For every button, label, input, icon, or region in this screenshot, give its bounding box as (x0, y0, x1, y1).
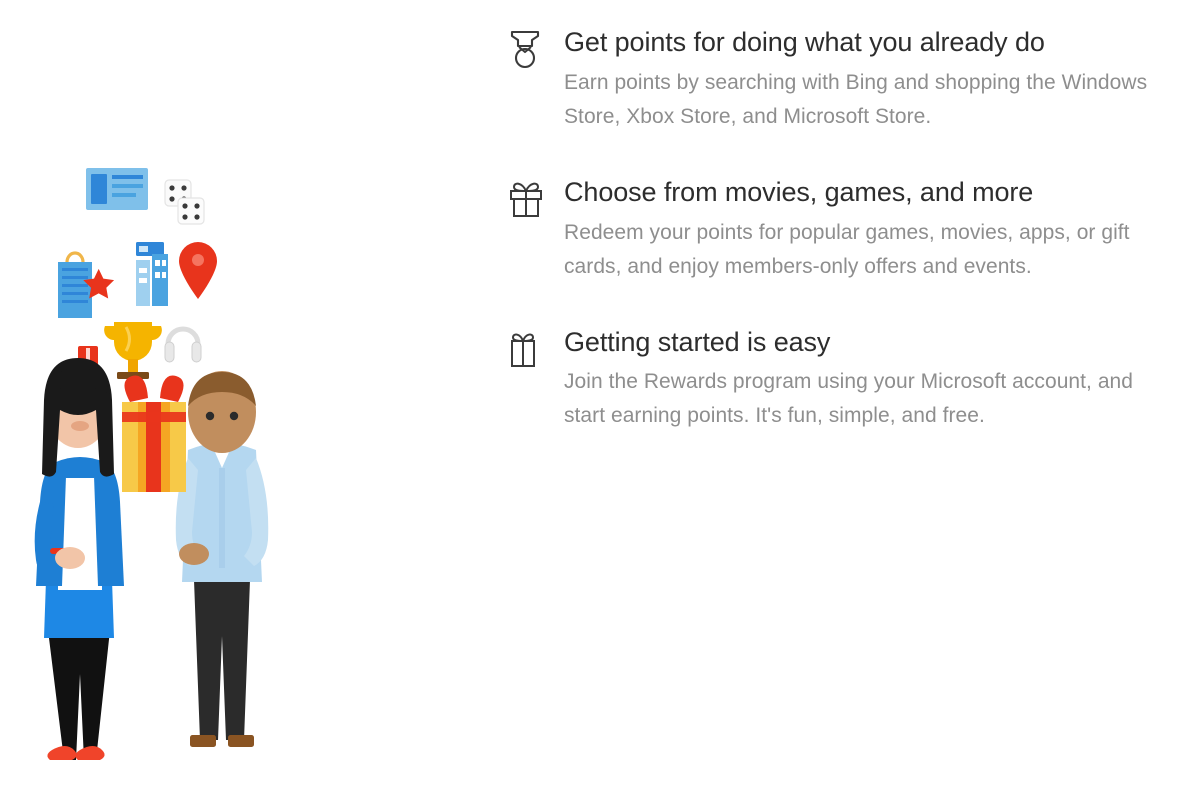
illustration-man (176, 371, 269, 747)
gift-small-icon (508, 326, 564, 372)
feature-item-getting-started: Getting started is easy Join the Rewards… (500, 326, 1200, 434)
feature-description: Earn points by searching with Bing and s… (564, 66, 1174, 134)
two-people-exchanging-gift-illustration (18, 150, 308, 790)
dice-icon (165, 180, 204, 224)
feature-body: Get points for doing what you already do… (564, 26, 1174, 134)
feature-body: Choose from movies, games, and more Rede… (564, 176, 1174, 284)
shopping-bag-icon (58, 253, 92, 318)
gift-box-illustration (122, 375, 186, 492)
feature-title: Get points for doing what you already do (564, 26, 1174, 60)
news-card-icon (86, 168, 148, 210)
medal-icon (508, 26, 564, 72)
illustration-pane (0, 0, 500, 800)
feature-list: Get points for doing what you already do… (500, 0, 1200, 800)
feature-item-get-points: Get points for doing what you already do… (500, 26, 1200, 134)
feature-item-choose-rewards: Choose from movies, games, and more Rede… (500, 176, 1200, 284)
map-pin-icon (179, 242, 217, 299)
feature-body: Getting started is easy Join the Rewards… (564, 326, 1174, 434)
trophy-icon (104, 322, 162, 379)
feature-description: Join the Rewards program using your Micr… (564, 365, 1174, 433)
rewards-onboarding-page: Get points for doing what you already do… (0, 0, 1200, 800)
illustration-woman (35, 358, 124, 760)
feature-description: Redeem your points for popular games, mo… (564, 216, 1174, 284)
headphones-icon (165, 329, 201, 362)
gift-box-icon (508, 176, 564, 222)
feature-title: Choose from movies, games, and more (564, 176, 1174, 210)
feature-title: Getting started is easy (564, 326, 1174, 360)
store-building-icon (136, 242, 168, 306)
